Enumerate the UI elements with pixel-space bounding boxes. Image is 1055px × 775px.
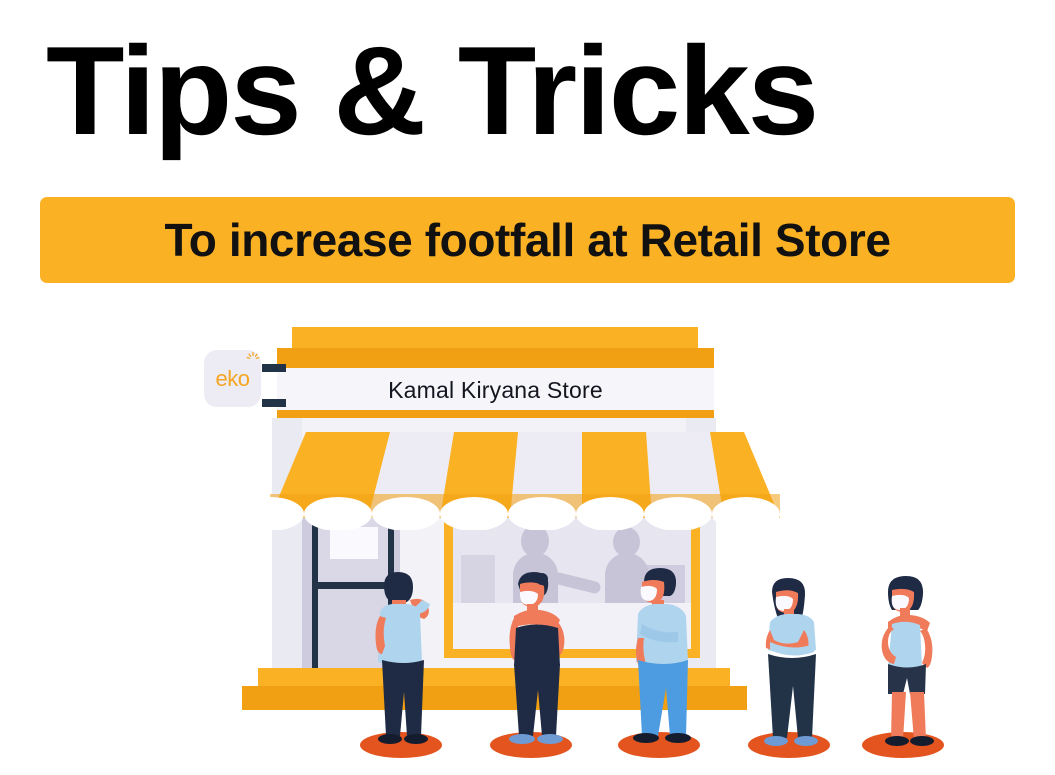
store-awning (240, 430, 810, 526)
facade-top-band (277, 348, 714, 370)
subtitle-banner: To increase footfall at Retail Store (40, 197, 1015, 283)
page-title: Tips & Tricks (46, 28, 1025, 154)
storefront-illustration: Kamal Kiryana Store eko (0, 300, 1055, 775)
person-5-woman-shorts (872, 576, 946, 754)
person-1-man-back (370, 572, 446, 752)
person-3-man-jeans (626, 568, 706, 752)
eko-logo-text: eko (216, 368, 250, 390)
person-2-woman-jumpsuit (500, 572, 576, 752)
eko-logo-sign: eko (204, 350, 261, 407)
store-name-text: Kamal Kiryana Store (388, 377, 603, 404)
sunburst-icon (246, 352, 260, 366)
poster-canvas: Tips & Tricks To increase footfall at Re… (0, 0, 1055, 775)
person-4-woman-arms-crossed (756, 578, 830, 754)
subtitle-text: To increase footfall at Retail Store (164, 213, 890, 267)
door-notice-card (330, 527, 378, 559)
sign-bracket-upper (262, 364, 286, 372)
store-signboard: Kamal Kiryana Store (277, 368, 714, 412)
sign-bracket-lower (262, 399, 286, 407)
